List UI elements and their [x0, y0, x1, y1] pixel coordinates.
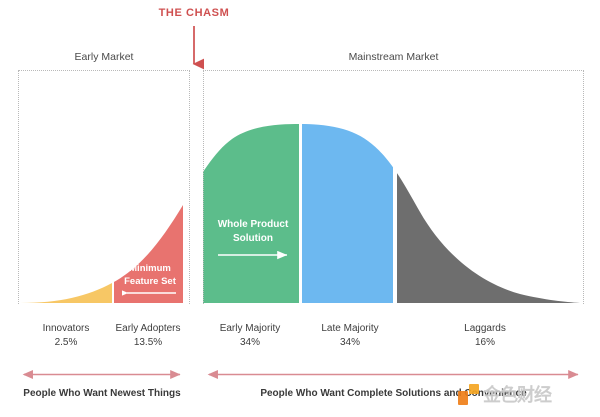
annotation-minimum-feature-set: Minimum Feature Set [117, 262, 183, 288]
segment-label-laggards: Laggards 16% [435, 322, 535, 350]
whole-product-solution-line2: Solution [233, 233, 273, 244]
watermark-logo-icon [458, 384, 479, 405]
segment-percent-early-adopters: 13.5% [98, 336, 198, 350]
watermark: 金色财经 [458, 381, 551, 407]
segment-name-early-adopters: Early Adopters [115, 323, 180, 334]
segment-label-early-majority: Early Majority 34% [200, 322, 300, 350]
minimum-feature-set-arrow-icon [122, 288, 178, 298]
dotted-frame-mainstream-market [203, 70, 584, 304]
minimum-feature-set-line2: Feature Set [124, 276, 176, 287]
segment-percent-early-majority: 34% [200, 336, 300, 350]
segment-label-late-majority: Late Majority 34% [300, 322, 400, 350]
minimum-feature-set-line1: Minimum [129, 263, 171, 274]
diagram-canvas: THE CHASM [0, 0, 600, 417]
section-label-early-market: Early Market [18, 51, 190, 63]
segment-label-early-adopters: Early Adopters 13.5% [98, 322, 198, 350]
segment-name-late-majority: Late Majority [321, 323, 378, 334]
whole-product-solution-line1: Whole Product [218, 219, 289, 230]
footer-arrow-left-icon [18, 369, 186, 380]
segment-percent-laggards: 16% [435, 336, 535, 350]
footer-arrow-right-icon [203, 369, 584, 380]
segment-name-early-majority: Early Majority [220, 323, 281, 334]
watermark-text: 金色财经 [483, 381, 551, 407]
whole-product-solution-arrow-icon [216, 250, 292, 260]
segment-name-innovators: Innovators [43, 323, 90, 334]
segment-name-laggards: Laggards [464, 323, 506, 334]
chasm-title: THE CHASM [0, 7, 388, 19]
segment-percent-late-majority: 34% [300, 336, 400, 350]
footer-label-newest-things: People Who Want Newest Things [18, 388, 186, 399]
section-label-mainstream-market: Mainstream Market [203, 51, 584, 63]
annotation-whole-product-solution: Whole Product Solution [207, 218, 299, 246]
